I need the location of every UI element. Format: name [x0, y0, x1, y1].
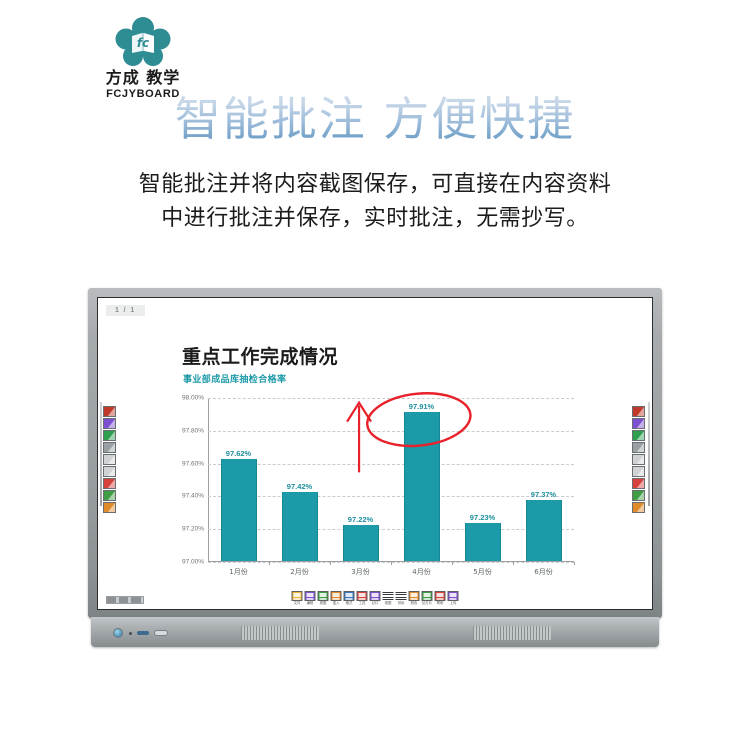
- format-icon[interactable]: [344, 591, 355, 601]
- subtitle-line-2: 中进行批注并保存，实时批注，无需抄写。: [50, 202, 700, 236]
- device-screen[interactable]: 1 / 1 重点工作完成情况 事业部成品库抽检合格率 98.00%97.80%9…: [97, 297, 653, 610]
- toolbar-item[interactable]: 文件: [292, 591, 303, 605]
- toolbar-item[interactable]: 编辑: [305, 591, 316, 605]
- brand-name-cn: 方成 教学: [78, 70, 208, 87]
- toolbar-item[interactable]: 视图: [383, 591, 394, 605]
- x-axis-tickmark: [330, 562, 331, 565]
- help-icon[interactable]: [435, 591, 446, 601]
- pen-tool-icon[interactable]: [632, 406, 645, 417]
- color-palette-icon[interactable]: [632, 430, 645, 441]
- toolbar-item-label: 帮助: [435, 602, 446, 605]
- x-axis-tick-label: 1月份: [229, 567, 247, 577]
- list-view-icon[interactable]: [383, 591, 394, 601]
- color-palette-icon[interactable]: [103, 430, 116, 441]
- x-axis-tick-label: 5月份: [473, 567, 491, 577]
- flower-book-logo-icon: fc: [115, 16, 171, 68]
- x-axis-tickmark: [574, 562, 575, 565]
- x-axis-tick-label: 4月份: [412, 567, 430, 577]
- x-axis-tick-label: 3月份: [351, 567, 369, 577]
- toolbar-item-label: 颜色: [409, 602, 420, 605]
- more-tools-icon[interactable]: [103, 502, 116, 513]
- y-axis-tick-label: 97.00%: [182, 559, 204, 566]
- device-bezel: 1 / 1 重点工作完成情况 事业部成品库抽检合格率 98.00%97.80%9…: [88, 288, 662, 618]
- tools-icon[interactable]: [357, 591, 368, 601]
- y-axis-tick-label: 98.00%: [182, 395, 204, 402]
- brand-logo: fc 方成 教学 FCJYBOARD: [78, 16, 208, 100]
- chart-plot-area: 98.00%97.80%97.60%97.40%97.20%97.00%97.6…: [208, 398, 574, 562]
- highlighter-tool-icon[interactable]: [103, 418, 116, 429]
- chart-bar-label: 97.62%: [226, 449, 251, 458]
- columns-icon[interactable]: [422, 591, 433, 601]
- chart-bar-label: 97.37%: [531, 490, 556, 499]
- toolbar-item-label: 插入: [331, 602, 342, 605]
- toolbar-item[interactable]: 工具: [357, 591, 368, 605]
- interactive-whiteboard-device: 1 / 1 重点工作完成情况 事业部成品库抽检合格率 98.00%97.80%9…: [88, 288, 662, 648]
- y-axis-tick-label: 97.80%: [182, 427, 204, 434]
- toolbar-item[interactable]: 视图: [318, 591, 329, 605]
- toolbar-rail: [648, 402, 650, 506]
- usb-port-icon: [137, 631, 149, 635]
- chart-bar: [526, 500, 562, 561]
- delete-tool-icon[interactable]: [632, 478, 645, 489]
- toolbar-item-label: 格式: [344, 602, 355, 605]
- toolbar-item[interactable]: 幻灯片: [422, 591, 433, 605]
- toolbar-item-label: 工具: [357, 602, 368, 605]
- toolbar-item[interactable]: 幻灯: [370, 591, 381, 605]
- slide-subtitle: 事业部成品库抽检合格率: [183, 372, 286, 385]
- power-button-icon[interactable]: [113, 628, 123, 638]
- y-axis: [208, 398, 209, 562]
- slideshow-icon[interactable]: [370, 591, 381, 601]
- pen-tool-icon[interactable]: [103, 406, 116, 417]
- y-axis-tick-label: 97.40%: [182, 493, 204, 500]
- toolbar-item-label: 文件: [292, 602, 303, 605]
- undo-arrow-icon[interactable]: [103, 454, 116, 465]
- chart-bar: [343, 525, 379, 561]
- x-axis-tickmark: [452, 562, 453, 565]
- page-subtitle: 智能批注并将内容截图保存，可直接在内容资料 中进行批注并保存，实时批注，无需抄写…: [50, 168, 700, 236]
- eraser-tool-icon[interactable]: [632, 442, 645, 453]
- left-annotation-toolbar[interactable]: [103, 406, 118, 514]
- slide-title: 重点工作完成情况: [182, 342, 338, 369]
- chart-gridline: [208, 529, 574, 530]
- toolbar-item[interactable]: 排序: [396, 591, 407, 605]
- chart-bar: [282, 492, 318, 561]
- subtitle-line-1: 智能批注并将内容截图保存，可直接在内容资料: [50, 168, 700, 202]
- shapes-tool-icon[interactable]: [632, 490, 645, 501]
- x-axis-tickmark: [391, 562, 392, 565]
- toolbar-item[interactable]: 上传: [448, 591, 459, 605]
- toolbar-item-label: 视图: [383, 602, 394, 605]
- chart-bar-label: 97.42%: [287, 482, 312, 491]
- highlighter-tool-icon[interactable]: [632, 418, 645, 429]
- chart-bar-label: 97.22%: [348, 515, 373, 524]
- toolbar-rail: [100, 402, 102, 506]
- chart-bar: [404, 412, 440, 561]
- chart-gridline: [208, 464, 574, 465]
- x-axis-tick-label: 2月份: [290, 567, 308, 577]
- file-icon[interactable]: [292, 591, 303, 601]
- ir-sensor-icon: [129, 632, 132, 635]
- x-axis-tick-label: 6月份: [534, 567, 552, 577]
- chart-bar-label: 97.91%: [409, 402, 434, 411]
- edit-icon[interactable]: [305, 591, 316, 601]
- eraser-tool-icon[interactable]: [103, 442, 116, 453]
- chart-bar: [221, 459, 257, 561]
- bar-chart: 98.00%97.80%97.60%97.40%97.20%97.00%97.6…: [162, 394, 582, 582]
- svg-text:fc: fc: [137, 36, 149, 50]
- chart-gridline: [208, 431, 574, 432]
- y-axis-tick-label: 97.20%: [182, 526, 204, 533]
- delete-tool-icon[interactable]: [103, 478, 116, 489]
- right-annotation-toolbar[interactable]: [632, 406, 647, 514]
- status-chip: [106, 596, 144, 604]
- bottom-toolbar[interactable]: 文件编辑视图插入格式工具幻灯视图排序颜色幻灯片帮助上传: [292, 591, 459, 605]
- undo-arrow-icon[interactable]: [632, 454, 645, 465]
- toolbar-item-label: 视图: [318, 602, 329, 605]
- toolbar-item-label: 排序: [396, 602, 407, 605]
- page-indicator: 1 / 1: [106, 305, 145, 316]
- sort-icon[interactable]: [396, 591, 407, 601]
- view-icon[interactable]: [318, 591, 329, 601]
- chart-gridline: [208, 496, 574, 497]
- upload-icon[interactable]: [448, 591, 459, 601]
- toolbar-item-label: 幻灯: [370, 602, 381, 605]
- toolbar-item[interactable]: 帮助: [435, 591, 446, 605]
- insert-icon[interactable]: [331, 591, 342, 601]
- chart-bar-label: 97.23%: [470, 513, 495, 522]
- y-axis-tick-label: 97.60%: [182, 460, 204, 467]
- speaker-grille-left: [241, 626, 319, 640]
- x-axis-tickmark: [269, 562, 270, 565]
- hdmi-port-icon: [154, 630, 168, 636]
- shapes-tool-icon[interactable]: [103, 490, 116, 501]
- x-axis-tickmark: [513, 562, 514, 565]
- redo-arrow-icon[interactable]: [632, 466, 645, 477]
- toolbar-item[interactable]: 格式: [344, 591, 355, 605]
- toolbar-item[interactable]: 插入: [331, 591, 342, 605]
- device-base: [91, 617, 659, 647]
- toolbar-item[interactable]: 颜色: [409, 591, 420, 605]
- page-headline: 智能批注 方便快捷: [0, 92, 750, 146]
- color-fill-icon[interactable]: [409, 591, 420, 601]
- redo-arrow-icon[interactable]: [103, 466, 116, 477]
- more-tools-icon[interactable]: [632, 502, 645, 513]
- toolbar-item-label: 编辑: [305, 602, 316, 605]
- chart-bar: [465, 523, 501, 561]
- toolbar-item-label: 上传: [448, 602, 459, 605]
- speaker-grille-right: [473, 626, 551, 640]
- chart-gridline: [208, 398, 574, 399]
- toolbar-item-label: 幻灯片: [422, 602, 433, 605]
